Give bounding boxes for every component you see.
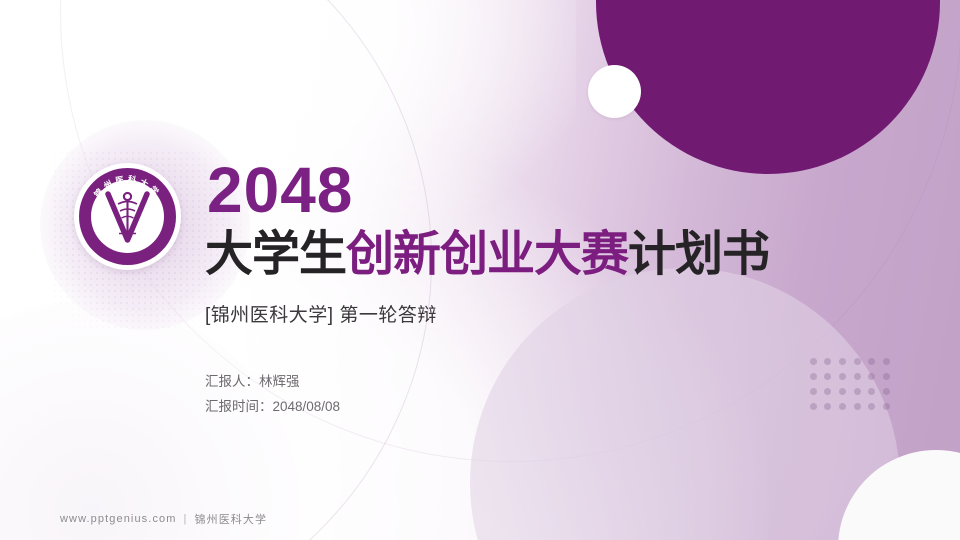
footer-organization: 锦州医科大学 — [195, 511, 268, 527]
footer-website: www.pptgenius.com — [60, 513, 177, 525]
headline-part-3: 计划书 — [628, 228, 769, 281]
presentation-slide: 锦州医科大学 JINZHOU MEDICAL UNIVERSITY 2048 大… — [0, 0, 960, 540]
svg-text:锦州医科大学: 锦州医科大学 — [92, 174, 163, 200]
footer: www.pptgenius.com | 锦州医科大学 — [60, 511, 267, 527]
dot-grid-decoration — [806, 354, 894, 414]
logo-emblem-icon: 锦州医科大学 JINZHOU MEDICAL UNIVERSITY — [74, 163, 181, 270]
presenter-label: 汇报人：林辉强 — [205, 370, 340, 395]
university-logo: 锦州医科大学 JINZHOU MEDICAL UNIVERSITY — [74, 163, 181, 270]
page-title-year: 2048 — [207, 158, 353, 222]
presentation-meta: 汇报人：林辉强 汇报时间：2048/08/08 — [205, 370, 340, 420]
decorative-white-accent-circle — [588, 65, 641, 118]
headline-part-1: 大学生 — [205, 228, 346, 281]
headline-part-2-accent: 创新创业大赛 — [346, 228, 628, 281]
footer-separator: | — [184, 513, 188, 525]
page-subtitle: [锦州医科大学] 第一轮答辩 — [205, 300, 437, 327]
date-label: 汇报时间：2048/08/08 — [205, 395, 340, 420]
page-title-headline: 大学生创新创业大赛计划书 — [205, 229, 769, 281]
